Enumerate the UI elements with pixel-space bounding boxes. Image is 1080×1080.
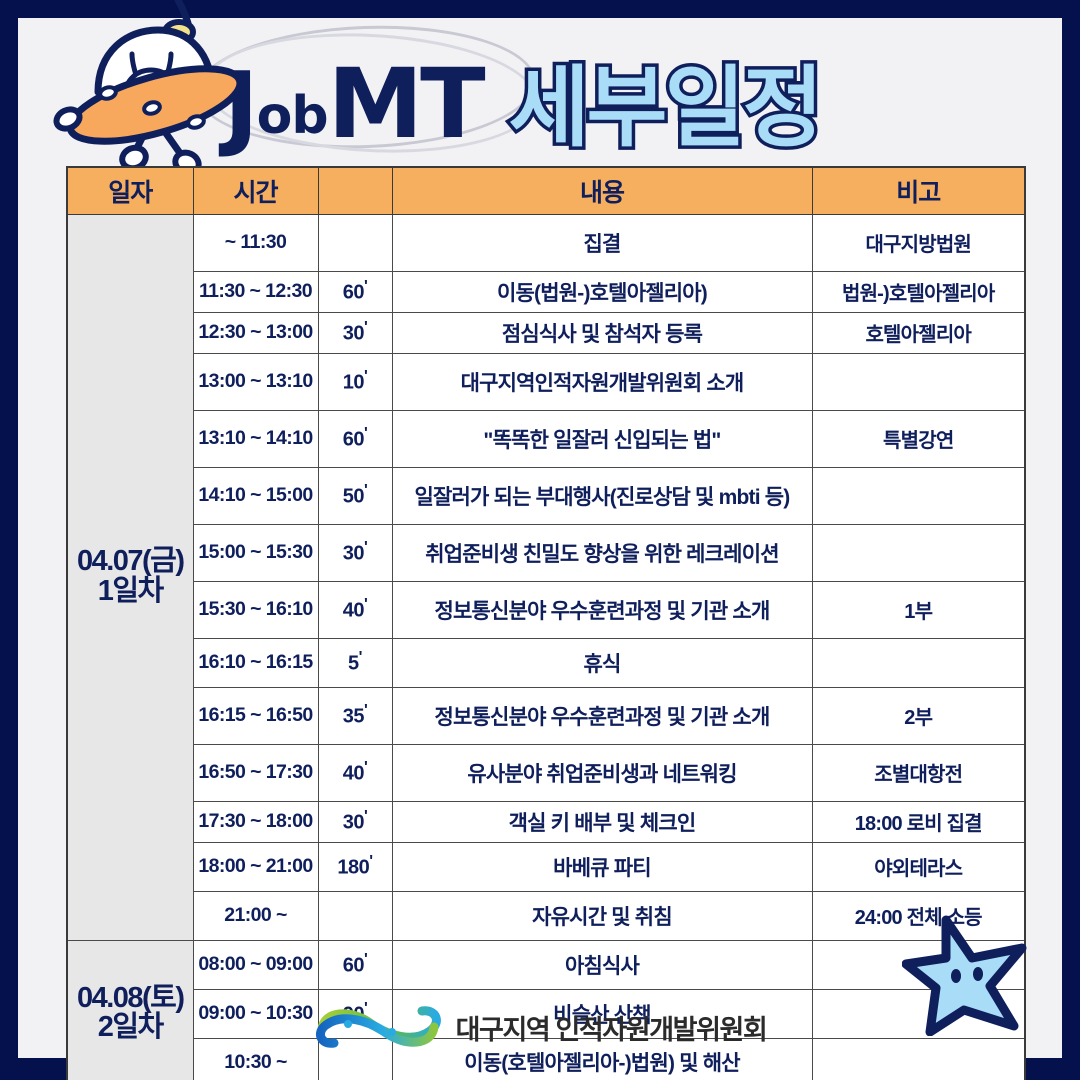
schedule-content-cell: 유사분야 취업준비생과 네트워킹 (392, 744, 812, 801)
column-header-time: 시간 (193, 167, 318, 214)
schedule-content-cell: 대구지역인적자원개발위원회 소개 (392, 353, 812, 410)
schedule-table-container: 일자 시간 내용 비고 04.07(금)1일차~ 11:30집결대구지방법원11… (66, 166, 1024, 1080)
column-header-duration (318, 167, 392, 214)
table-row: 16:50 ~ 17:3040'유사분야 취업준비생과 네트워킹조별대항전 (67, 744, 1025, 801)
schedule-time-cell: 16:10 ~ 16:15 (193, 638, 318, 687)
column-header-content: 내용 (392, 167, 812, 214)
schedule-table-head: 일자 시간 내용 비고 (67, 167, 1025, 214)
schedule-content-cell: 집결 (392, 214, 812, 271)
table-row: 16:15 ~ 16:5035'정보통신분야 우수훈련과정 및 기관 소개2부 (67, 687, 1025, 744)
page-title: J ob MT 세부일정 (224, 32, 820, 150)
table-row: 12:30 ~ 13:0030'점심식사 및 참석자 등록호텔아젤리아 (67, 312, 1025, 353)
schedule-time-cell: 16:15 ~ 16:50 (193, 687, 318, 744)
schedule-note-cell: 법원-)호텔아젤리아 (812, 271, 1025, 312)
schedule-time-cell: 17:30 ~ 18:00 (193, 801, 318, 842)
schedule-time-cell: 15:00 ~ 15:30 (193, 524, 318, 581)
schedule-duration-cell: 10' (318, 353, 392, 410)
schedule-time-cell: 21:00 ~ (193, 891, 318, 940)
schedule-duration-cell: 5' (318, 638, 392, 687)
title-mt-letters: MT (328, 59, 483, 150)
table-row: 21:00 ~자유시간 및 취침24:00 전체 소등 (67, 891, 1025, 940)
footer-logo-bar: 대구지역 인적자원개발위원회 (18, 1004, 1062, 1050)
title-ob-letters: ob (257, 86, 328, 146)
schedule-time-cell: 12:30 ~ 13:00 (193, 312, 318, 353)
schedule-duration-cell: 60' (318, 940, 392, 989)
schedule-duration-cell: 60' (318, 271, 392, 312)
schedule-content-cell: 취업준비생 친밀도 향상을 위한 레크레이션 (392, 524, 812, 581)
day-label: 1일차 (71, 577, 190, 607)
column-header-note: 비고 (812, 167, 1025, 214)
schedule-note-cell (812, 524, 1025, 581)
schedule-time-cell: 11:30 ~ 12:30 (193, 271, 318, 312)
schedule-content-cell: 휴식 (392, 638, 812, 687)
schedule-note-cell: 1부 (812, 581, 1025, 638)
schedule-time-cell: 13:10 ~ 14:10 (193, 410, 318, 467)
table-row: 18:00 ~ 21:00180'바베큐 파티야외테라스 (67, 842, 1025, 891)
table-row: 17:30 ~ 18:0030'객실 키 배부 및 체크인18:00 로비 집결 (67, 801, 1025, 842)
schedule-note-cell: 호텔아젤리아 (812, 312, 1025, 353)
schedule-content-cell: 이동(법원-)호텔아젤리아) (392, 271, 812, 312)
schedule-duration-cell: 30' (318, 801, 392, 842)
table-row: 13:00 ~ 13:1010'대구지역인적자원개발위원회 소개 (67, 353, 1025, 410)
schedule-time-cell: ~ 11:30 (193, 214, 318, 271)
schedule-note-cell: 조별대항전 (812, 744, 1025, 801)
schedule-duration-cell: 40' (318, 744, 392, 801)
schedule-duration-cell: 180' (318, 842, 392, 891)
table-header-row: 일자 시간 내용 비고 (67, 167, 1025, 214)
organization-name: 대구지역 인적자원개발위원회 (456, 1008, 767, 1047)
schedule-content-cell: 바베큐 파티 (392, 842, 812, 891)
schedule-time-cell: 16:50 ~ 17:30 (193, 744, 318, 801)
table-row: 13:10 ~ 14:1060'"똑똑한 일잘러 신입되는 법"특별강연 (67, 410, 1025, 467)
column-header-date: 일자 (67, 167, 193, 214)
schedule-content-cell: 정보통신분야 우수훈련과정 및 기관 소개 (392, 581, 812, 638)
schedule-duration-cell: 60' (318, 410, 392, 467)
schedule-note-cell: 특별강연 (812, 410, 1025, 467)
schedule-content-cell: "똑똑한 일잘러 신입되는 법" (392, 410, 812, 467)
poster-sheet: J ob MT 세부일정 (18, 18, 1062, 1058)
schedule-content-cell: 일잘러가 되는 부대행사(진로상담 및 mbti 등) (392, 467, 812, 524)
schedule-duration-cell (318, 891, 392, 940)
schedule-note-cell (812, 353, 1025, 410)
schedule-note-cell (812, 940, 1025, 989)
schedule-note-cell: 24:00 전체 소등 (812, 891, 1025, 940)
title-j-letter: J (224, 62, 257, 150)
table-row: 15:30 ~ 16:1040'정보통신분야 우수훈련과정 및 기관 소개1부 (67, 581, 1025, 638)
table-row: 11:30 ~ 12:3060'이동(법원-)호텔아젤리아)법원-)호텔아젤리아 (67, 271, 1025, 312)
title-korean-subtitle: 세부일정 (509, 64, 821, 152)
schedule-table-body: 04.07(금)1일차~ 11:30집결대구지방법원11:30 ~ 12:306… (67, 214, 1025, 1080)
table-row: 04.08(토)2일차08:00 ~ 09:0060'아침식사 (67, 940, 1025, 989)
table-row: 14:10 ~ 15:0050'일잘러가 되는 부대행사(진로상담 및 mbti… (67, 467, 1025, 524)
schedule-content-cell: 정보통신분야 우수훈련과정 및 기관 소개 (392, 687, 812, 744)
poster-header: J ob MT 세부일정 (18, 18, 1062, 166)
schedule-duration-cell: 50' (318, 467, 392, 524)
schedule-note-cell: 18:00 로비 집결 (812, 801, 1025, 842)
schedule-duration-cell: 30' (318, 524, 392, 581)
table-row: 04.07(금)1일차~ 11:30집결대구지방법원 (67, 214, 1025, 271)
table-row: 16:10 ~ 16:155'휴식 (67, 638, 1025, 687)
schedule-content-cell: 점심식사 및 참석자 등록 (392, 312, 812, 353)
schedule-time-cell: 13:00 ~ 13:10 (193, 353, 318, 410)
schedule-note-cell: 대구지방법원 (812, 214, 1025, 271)
schedule-time-cell: 15:30 ~ 16:10 (193, 581, 318, 638)
schedule-date-cell: 04.07(금)1일차 (67, 214, 193, 940)
schedule-duration-cell (318, 214, 392, 271)
table-row: 15:00 ~ 15:3030'취업준비생 친밀도 향상을 위한 레크레이션 (67, 524, 1025, 581)
schedule-note-cell: 2부 (812, 687, 1025, 744)
schedule-content-cell: 객실 키 배부 및 체크인 (392, 801, 812, 842)
schedule-content-cell: 자유시간 및 취침 (392, 891, 812, 940)
schedule-duration-cell: 30' (318, 312, 392, 353)
schedule-content-cell: 아침식사 (392, 940, 812, 989)
schedule-time-cell: 18:00 ~ 21:00 (193, 842, 318, 891)
schedule-time-cell: 08:00 ~ 09:00 (193, 940, 318, 989)
schedule-time-cell: 14:10 ~ 15:00 (193, 467, 318, 524)
schedule-note-cell (812, 467, 1025, 524)
schedule-table: 일자 시간 내용 비고 04.07(금)1일차~ 11:30집결대구지방법원11… (66, 166, 1026, 1080)
infinity-ribbon-logo (314, 1005, 444, 1049)
schedule-duration-cell: 35' (318, 687, 392, 744)
date-value: 04.07(금) (77, 545, 184, 577)
poster-frame: J ob MT 세부일정 (0, 0, 1080, 1080)
schedule-duration-cell: 40' (318, 581, 392, 638)
schedule-note-cell (812, 638, 1025, 687)
schedule-note-cell: 야외테라스 (812, 842, 1025, 891)
